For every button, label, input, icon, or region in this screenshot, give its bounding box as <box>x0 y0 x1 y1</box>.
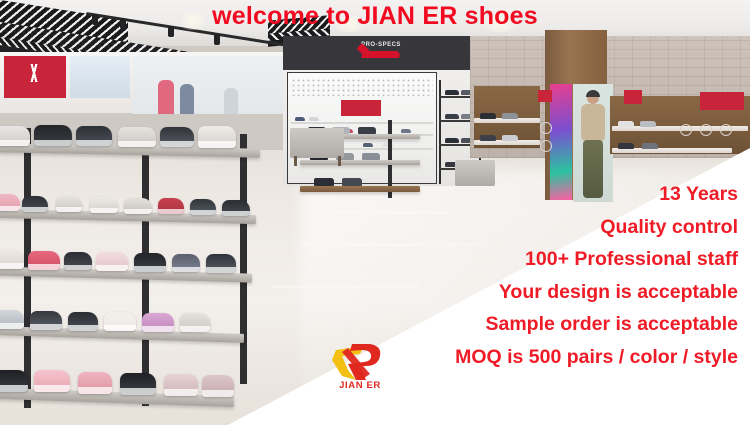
wall-shoe-ring-1 <box>540 122 552 134</box>
shoe-l2-2 <box>22 196 48 212</box>
rack-shoe-1 <box>445 90 459 95</box>
shoe-l2-3 <box>56 196 82 212</box>
floor-rack-shelf-2 <box>300 160 420 165</box>
shoe-l5-6 <box>202 375 234 397</box>
wall-shoe-ring-4 <box>700 124 712 136</box>
page-title: welcome to JIAN ER shoes <box>0 2 750 31</box>
shoe-l4-1 <box>0 310 24 329</box>
feature-item-years: 13 Years <box>138 178 738 211</box>
shoe-l4-3 <box>68 312 98 331</box>
wall-shoe-ring-5 <box>720 124 732 136</box>
shoe-l5-3 <box>78 372 112 394</box>
shoe-top-5 <box>160 127 194 147</box>
shoe-l5-1 <box>0 370 28 392</box>
right-wall-red-sign-3 <box>700 92 744 110</box>
jian-er-logo: JIAN ER <box>320 340 400 398</box>
shoe-l2-4 <box>90 197 118 213</box>
bench-leg-right <box>338 156 341 166</box>
shoe-top-6 <box>198 126 236 148</box>
feature-item-your-design: Your design is acceptable <box>138 276 738 309</box>
model-hair <box>586 90 600 97</box>
feature-item-quality-control: Quality control <box>138 211 738 244</box>
shoe-l4-2 <box>30 311 62 330</box>
poster-figure-1 <box>158 80 174 114</box>
store-bench <box>290 128 344 158</box>
storefront-perforated-panel <box>291 78 433 96</box>
right-wall-shoe-4 <box>502 135 518 141</box>
interior-red-sign <box>341 100 381 116</box>
poster-figure-3 <box>224 88 238 114</box>
shoe-l4-4 <box>104 312 136 331</box>
shoe-l3-3 <box>64 252 92 270</box>
shoe-l5-4 <box>120 373 156 395</box>
shoe-l3-4 <box>96 252 128 271</box>
shoe-l5-5 <box>164 374 198 396</box>
shoe-l2-1 <box>0 194 20 211</box>
wall-shoe-ring-3 <box>680 124 692 136</box>
feature-item-staff: 100+ Professional staff <box>138 243 738 276</box>
shoe-l5-2 <box>34 370 70 392</box>
jian-er-logo-text: JIAN ER <box>320 380 400 391</box>
bench-leg-left <box>294 156 297 166</box>
right-wall-shoe-1 <box>480 113 496 119</box>
wall-poster-red <box>4 56 66 98</box>
feature-item-sample-order: Sample order is acceptable <box>138 308 738 341</box>
floor-rack-shoe-6 <box>362 153 380 160</box>
right-wall-shoe-6 <box>640 121 656 127</box>
shoe-top-3 <box>76 126 112 146</box>
right-wall-shoe-5 <box>618 121 634 127</box>
right-wall-shoe-2 <box>502 113 518 119</box>
feature-item-moq: MOQ is 500 pairs / color / style <box>138 341 738 374</box>
poster-figure-2 <box>180 84 194 114</box>
feature-list: 13 Years Quality control 100+ Profession… <box>138 178 738 373</box>
right-wall-red-sign-2 <box>624 90 642 104</box>
right-wall-shoe-3 <box>480 135 496 141</box>
model-top <box>581 104 605 142</box>
right-wall-shoe-7 <box>618 143 634 149</box>
promo-banner: PRO-SPECS <box>0 0 750 425</box>
wall-poster-blue <box>70 56 130 98</box>
shoe-top-1 <box>0 126 30 146</box>
wall-shoe-ring-2 <box>540 140 552 152</box>
shoe-l3-1 <box>0 250 24 269</box>
shoe-top-4 <box>118 127 156 147</box>
rack-shoe-3 <box>445 114 459 119</box>
right-wall-shoe-8 <box>642 143 658 149</box>
rack-shoe-5 <box>445 138 459 143</box>
right-wall-red-sign-1 <box>538 90 552 102</box>
shoe-top-2 <box>34 125 72 146</box>
shoe-l3-2 <box>28 251 60 270</box>
spotlight-head-4 <box>214 34 220 45</box>
jian-er-logo-mark-icon <box>326 340 388 384</box>
prospecs-logo-icon <box>361 51 400 58</box>
floor-rack-shoe-3 <box>358 127 376 134</box>
